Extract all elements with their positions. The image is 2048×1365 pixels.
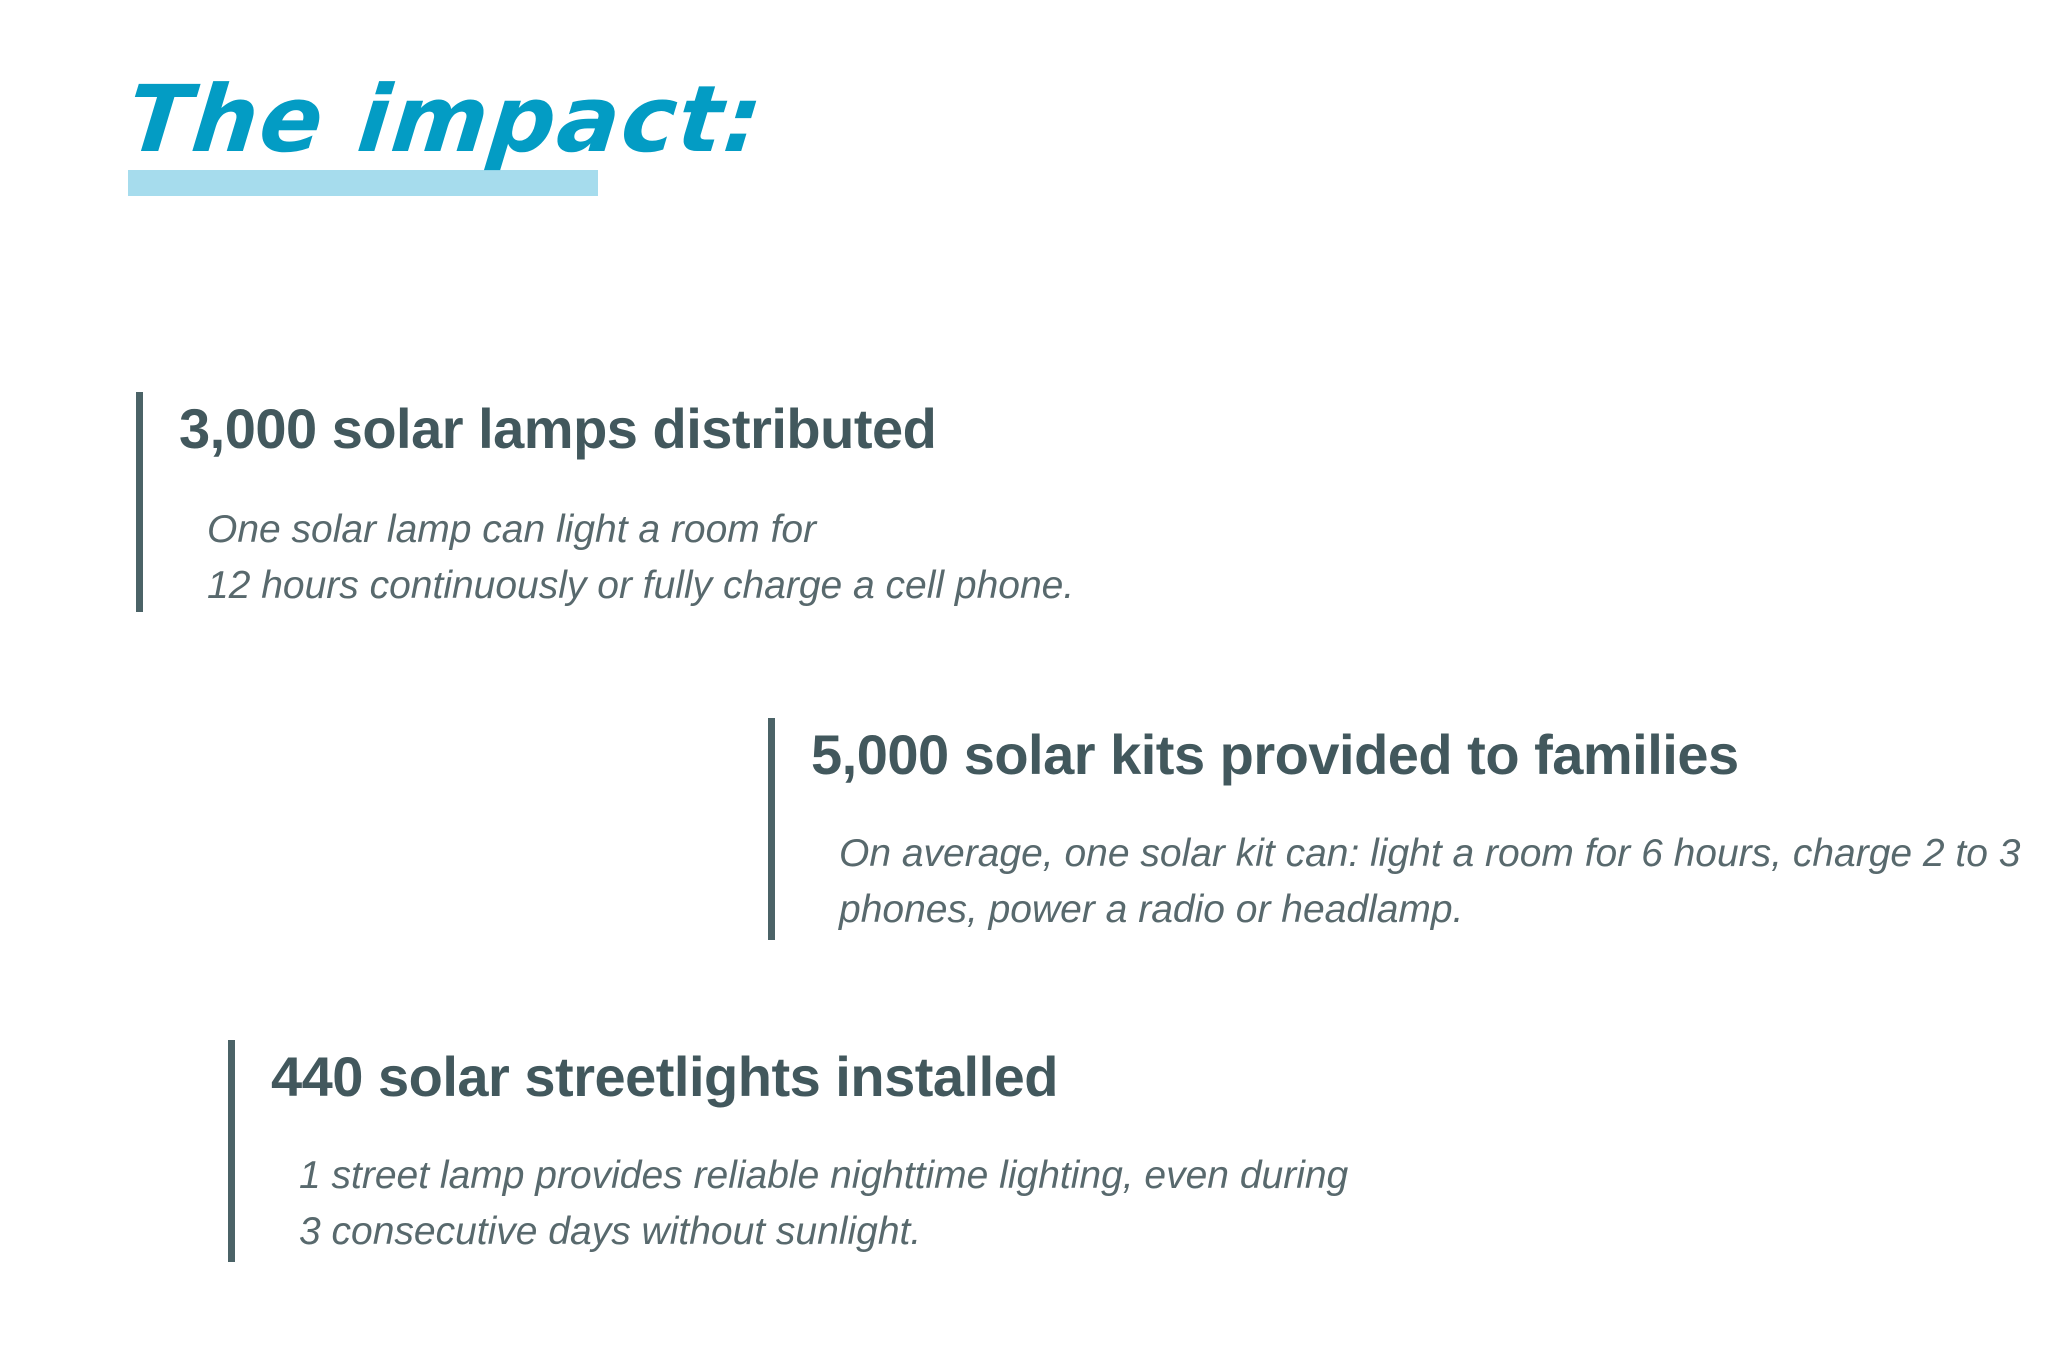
stat-accent-rule: [228, 1040, 235, 1262]
stat-accent-rule: [768, 718, 775, 940]
stat-block-solar-kits: 5,000 solar kits provided to families On…: [768, 718, 2020, 940]
stat-accent-rule: [136, 392, 143, 612]
stat-heading: 440 solar streetlights installed: [271, 1046, 1348, 1108]
stat-description: One solar lamp can light a room for 12 h…: [179, 502, 1074, 614]
stat-description: On average, one solar kit can: light a r…: [811, 826, 2020, 938]
stat-block-solar-lamps: 3,000 solar lamps distributed One solar …: [136, 392, 1074, 612]
stat-heading: 5,000 solar kits provided to families: [811, 724, 2020, 786]
stat-body: 3,000 solar lamps distributed One solar …: [143, 392, 1074, 612]
stat-description-line: 12 hours continuously or fully charge a …: [207, 558, 1074, 614]
page-title: The impact:: [122, 60, 770, 180]
stat-description-line: 3 consecutive days without sunlight.: [299, 1204, 1348, 1260]
stat-block-solar-streetlights: 440 solar streetlights installed 1 stree…: [228, 1040, 1348, 1262]
stat-description: 1 street lamp provides reliable nighttim…: [271, 1148, 1348, 1260]
title-area: The impact:: [128, 60, 828, 210]
stat-description-line: One solar lamp can light a room for: [207, 502, 1074, 558]
impact-slide: { "slide": { "background_color": "#fffff…: [0, 0, 2048, 1365]
stat-body: 5,000 solar kits provided to families On…: [775, 718, 2020, 940]
stat-description-line: On average, one solar kit can: light a r…: [839, 826, 2020, 882]
stat-body: 440 solar streetlights installed 1 stree…: [235, 1040, 1348, 1262]
stat-heading: 3,000 solar lamps distributed: [179, 398, 1074, 460]
stat-description-line: phones, power a radio or headlamp.: [839, 882, 2020, 938]
stat-description-line: 1 street lamp provides reliable nighttim…: [299, 1148, 1348, 1204]
